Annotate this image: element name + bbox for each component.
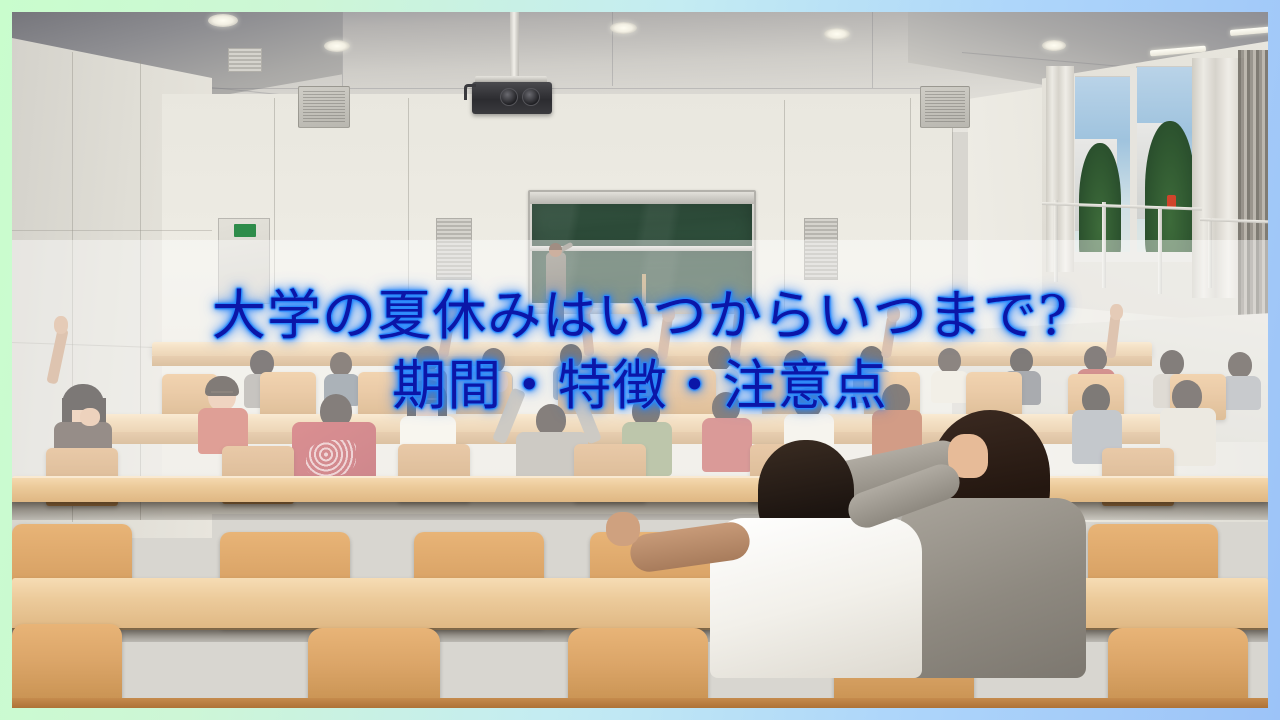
student-head xyxy=(1228,352,1252,378)
railing-post xyxy=(1158,208,1162,294)
lecturer-body xyxy=(546,252,566,300)
podium-stand xyxy=(642,274,646,306)
student-head xyxy=(1084,346,1107,371)
raised-hand xyxy=(444,302,457,318)
lecturer-legs xyxy=(548,298,564,330)
student-body xyxy=(900,498,1086,678)
downlight xyxy=(324,40,350,52)
glasses-icon xyxy=(414,398,438,404)
raised-hand xyxy=(590,372,606,392)
railing-post xyxy=(1102,202,1106,288)
window-pane xyxy=(1136,66,1196,256)
student-head xyxy=(1160,350,1184,376)
curtain-left xyxy=(1046,66,1074,272)
projector-lens xyxy=(522,88,540,106)
raised-hand xyxy=(580,298,593,314)
student-body xyxy=(702,418,752,472)
desk-row xyxy=(12,476,1268,502)
wall-seam xyxy=(784,100,785,310)
student-head xyxy=(560,344,582,368)
projector xyxy=(472,82,552,114)
student-body xyxy=(931,371,969,403)
chair xyxy=(660,370,716,416)
student-head xyxy=(1010,348,1033,373)
raised-hand xyxy=(734,302,747,318)
ceiling-seam xyxy=(872,12,873,88)
downlight xyxy=(610,22,637,34)
ceiling-seam xyxy=(162,88,962,89)
shirt-print xyxy=(306,440,356,476)
railing-post xyxy=(1208,218,1212,288)
blackboard-rail-top xyxy=(530,192,754,204)
student-head xyxy=(938,348,961,373)
wall-seam xyxy=(140,60,141,520)
railing-post xyxy=(1054,200,1058,282)
projector-lens xyxy=(500,88,518,106)
downlight xyxy=(824,28,850,40)
raised-hand xyxy=(54,316,68,334)
student-head xyxy=(636,348,659,373)
student-head xyxy=(482,348,505,373)
student-head xyxy=(708,346,731,371)
raised-hand xyxy=(492,372,508,392)
speaker-left xyxy=(298,86,350,128)
air-vent xyxy=(436,218,472,280)
student-hand xyxy=(80,408,100,426)
exit-sign-icon xyxy=(234,224,256,237)
chair xyxy=(358,372,414,418)
desk-bottom-edge xyxy=(12,698,1268,708)
curtain-mid xyxy=(1192,58,1244,298)
wall-seam xyxy=(274,98,275,298)
projector-cable xyxy=(464,84,476,100)
student-head xyxy=(860,346,883,371)
chair xyxy=(260,372,316,418)
blackboard-upper xyxy=(532,204,752,246)
curtain-right xyxy=(1238,50,1268,320)
window-sill xyxy=(1068,252,1198,262)
wall-seam xyxy=(910,98,911,318)
raised-hand xyxy=(662,306,675,322)
gradient-frame: 大学の夏休みはいつからいつまで? 期間・特徴・注意点 xyxy=(0,0,1280,720)
wall-seam xyxy=(12,230,212,231)
raised-hand xyxy=(887,306,900,322)
downlight xyxy=(1042,40,1066,51)
air-vent xyxy=(804,218,838,280)
lecturer-hair xyxy=(549,243,562,250)
speaker-right xyxy=(920,86,970,128)
window-mullion xyxy=(1130,68,1137,260)
student-body xyxy=(1221,376,1261,410)
downlight xyxy=(208,14,238,27)
chair xyxy=(12,624,122,708)
chair xyxy=(1108,628,1248,708)
wall-seam xyxy=(408,98,409,308)
tree-outside xyxy=(1145,121,1195,256)
student-head xyxy=(416,346,439,371)
tree-outside xyxy=(1079,143,1121,258)
student-hand xyxy=(606,512,640,546)
projector-mount-pole xyxy=(510,12,519,84)
glasses-icon xyxy=(211,391,233,396)
air-vent xyxy=(228,48,262,72)
lecture-hall-photo: 大学の夏休みはいつからいつまで? 期間・特徴・注意点 xyxy=(12,12,1268,708)
chair xyxy=(568,628,708,708)
wall-seam xyxy=(952,96,953,326)
chair xyxy=(308,628,440,708)
raised-hand xyxy=(1110,304,1123,320)
student-head xyxy=(330,352,352,376)
